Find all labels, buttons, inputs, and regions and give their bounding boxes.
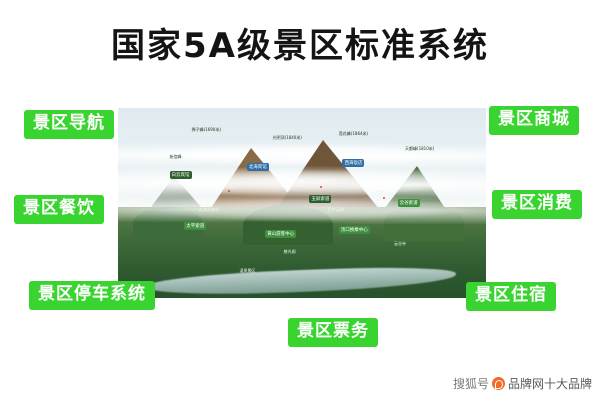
watermark-prefix: 搜狐号 xyxy=(453,375,489,392)
cloud-layer-3 xyxy=(118,194,486,224)
page-title: 国家5A级景区标准系统 xyxy=(0,18,600,67)
map-label: 狮子峰(1690米) xyxy=(192,127,221,133)
watermark: 搜狐号 品牌网十大品牌 xyxy=(453,375,592,392)
map-plate: 西海饭店 xyxy=(342,159,364,167)
tag-consume[interactable]: 景区消费 xyxy=(492,190,582,219)
tag-mall[interactable]: 景区商城 xyxy=(489,106,579,135)
tag-ticketing[interactable]: 景区票务 xyxy=(288,318,378,347)
poster-canvas: 国家5A级景区标准系统 始信峰 狮子峰(1690米) 光明顶(1840米) 莲花… xyxy=(0,0,600,400)
map-plate: 黄山游客中心 xyxy=(265,230,296,238)
tag-catering[interactable]: 景区餐饮 xyxy=(14,195,104,224)
map-label: 飞来石 xyxy=(225,184,237,190)
map-label: 西海大峡谷 xyxy=(199,207,219,213)
sohu-logo-icon xyxy=(492,377,505,390)
map-plate: 云谷索道 xyxy=(398,199,420,207)
map-label: 温泉景区 xyxy=(239,268,255,274)
map-plate: 汤口换乘中心 xyxy=(339,226,370,234)
tag-parking[interactable]: 景区停车系统 xyxy=(29,281,155,310)
map-plate: 北海宾馆 xyxy=(247,163,269,171)
map-plate: 玉屏索道 xyxy=(309,195,331,203)
map-label: 鳌鱼峰 xyxy=(306,178,318,184)
map-plate: 白云宾馆 xyxy=(170,171,192,179)
map-label: 排云亭 xyxy=(151,188,163,194)
scenic-area-map: 始信峰 狮子峰(1690米) 光明顶(1840米) 莲花峰(1864米) 天都峰… xyxy=(118,108,486,298)
tag-navigation[interactable]: 景区导航 xyxy=(24,110,114,139)
map-label: 百步云梯 xyxy=(328,207,344,213)
watermark-brand: 品牌网十大品牌 xyxy=(508,375,592,392)
map-label: 玉屏楼 xyxy=(372,190,384,196)
tag-lodging[interactable]: 景区住宿 xyxy=(466,282,556,311)
map-label: 慈光阁 xyxy=(284,249,296,255)
map-plate: 太平索道 xyxy=(184,222,206,230)
map-label: 天都峰(1810米) xyxy=(405,146,434,152)
map-label: 云谷寺 xyxy=(394,241,406,247)
map-label: 始信峰 xyxy=(170,154,182,160)
map-label: 莲花峰(1864米) xyxy=(339,131,368,137)
map-label: 光明顶(1840米) xyxy=(273,135,302,141)
